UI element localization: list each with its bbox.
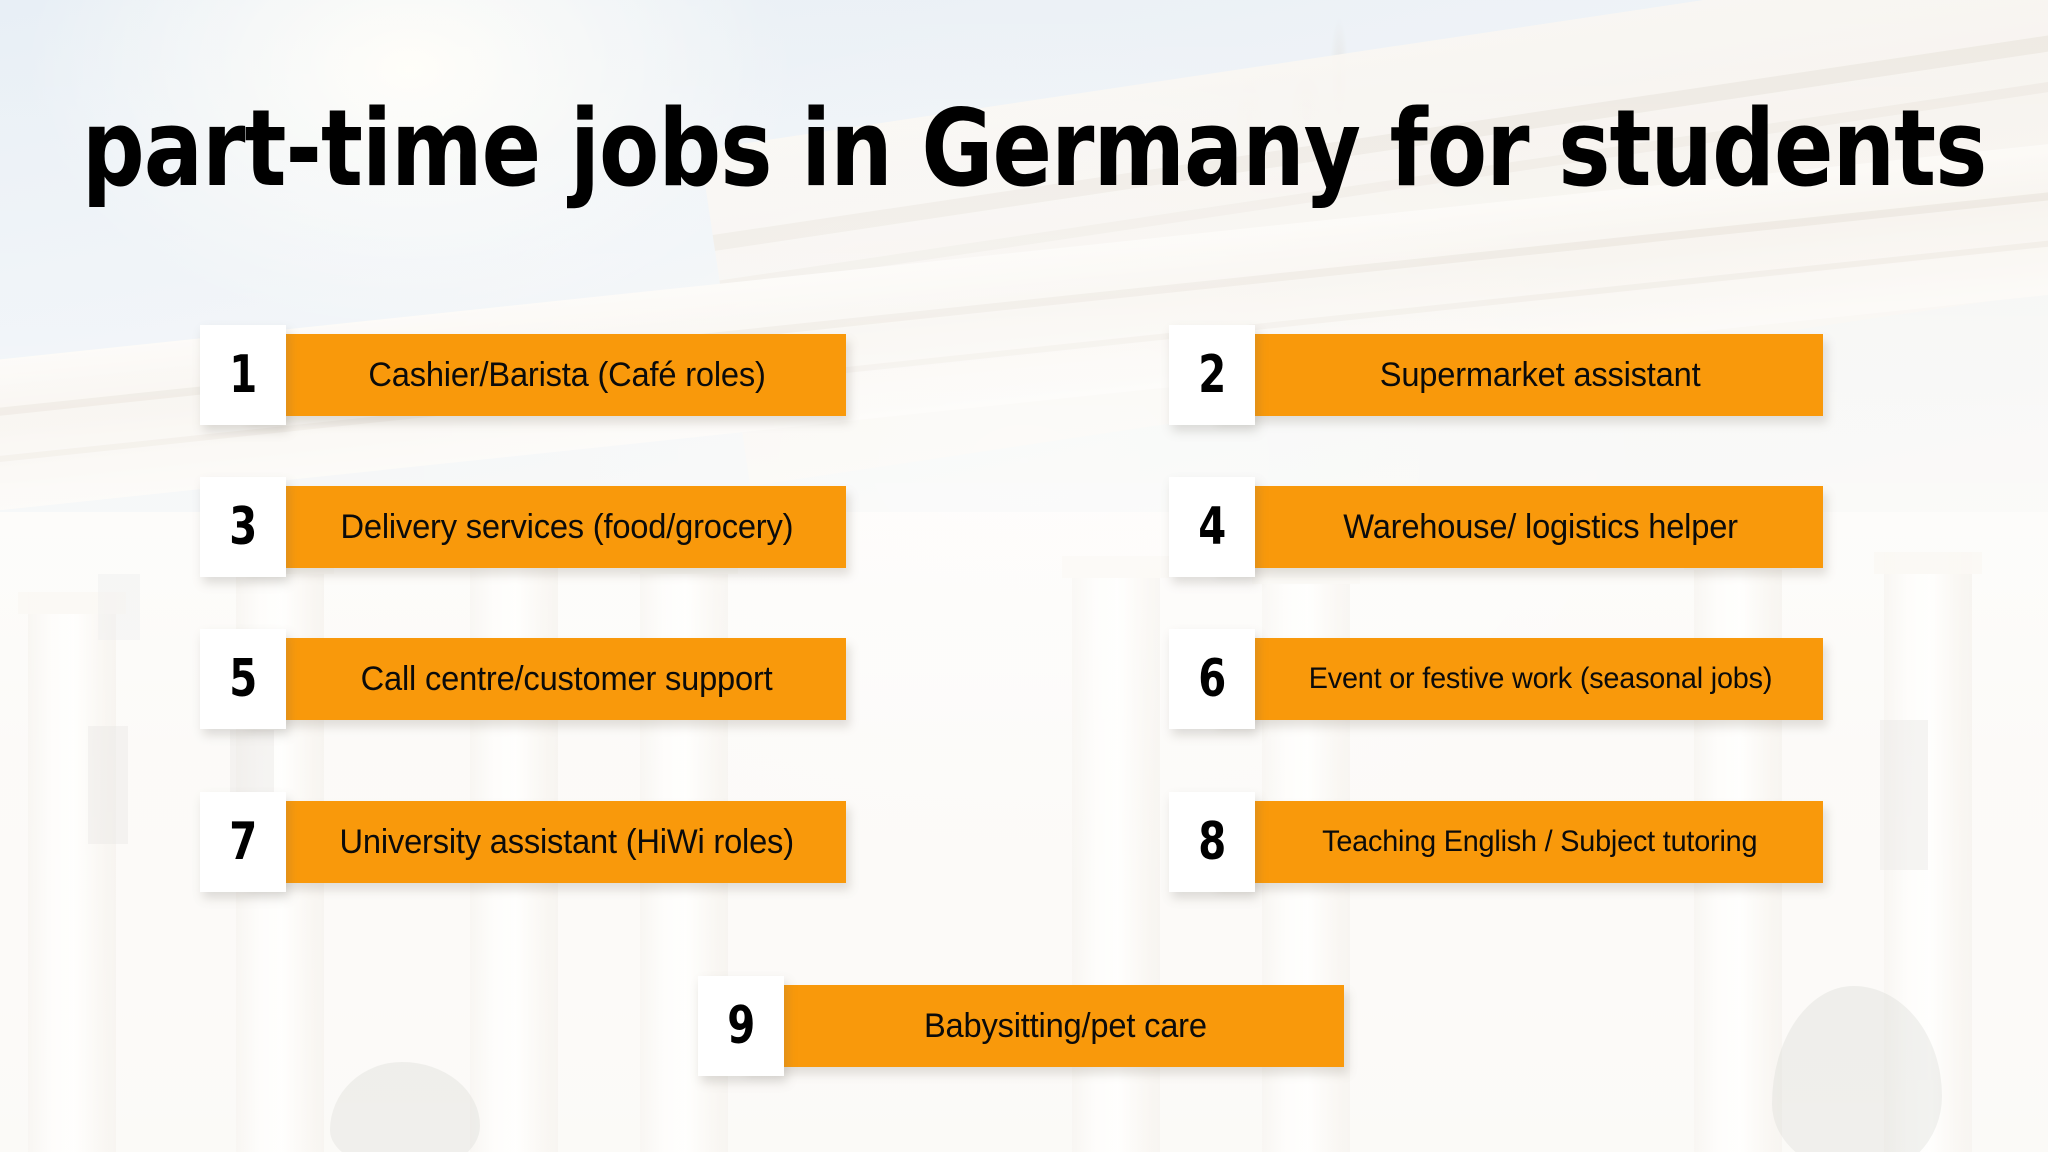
item-number: 4 — [1198, 501, 1226, 553]
infographic-canvas: part-time jobs in Germany for students C… — [0, 0, 2048, 1152]
list-item-6[interactable]: Event or festive work (seasonal jobs) 6 — [1213, 638, 1823, 720]
list-item-4[interactable]: Warehouse/ logistics helper 4 — [1213, 486, 1823, 568]
item-label: Warehouse/ logistics helper — [1281, 508, 1754, 547]
item-number: 5 — [229, 653, 257, 705]
item-label: Babysitting/pet care — [862, 1007, 1224, 1046]
list-item-5[interactable]: Call centre/customer support 5 — [244, 638, 846, 720]
item-number-badge: 6 — [1169, 629, 1255, 729]
item-label: Delivery services (food/grocery) — [279, 508, 810, 547]
item-bar[interactable]: Babysitting/pet care — [742, 985, 1344, 1067]
item-bar[interactable]: Event or festive work (seasonal jobs) — [1213, 638, 1823, 720]
item-bar[interactable]: University assistant (HiWi roles) — [244, 801, 846, 883]
item-number: 9 — [727, 1000, 755, 1052]
item-number: 8 — [1198, 816, 1226, 868]
item-number-badge: 4 — [1169, 477, 1255, 577]
item-bar[interactable]: Supermarket assistant — [1213, 334, 1823, 416]
item-number-badge: 9 — [698, 976, 784, 1076]
item-label: Call centre/customer support — [300, 660, 791, 699]
item-number: 3 — [229, 501, 257, 553]
list-item-8[interactable]: Teaching English / Subject tutoring 8 — [1213, 801, 1823, 883]
job-list: Cashier/Barista (Café roles) 1 Supermark… — [0, 0, 2048, 1152]
list-item-7[interactable]: University assistant (HiWi roles) 7 — [244, 801, 846, 883]
item-number-badge: 5 — [200, 629, 286, 729]
item-number-badge: 7 — [200, 792, 286, 892]
item-number-badge: 3 — [200, 477, 286, 577]
list-item-2[interactable]: Supermarket assistant 2 — [1213, 334, 1823, 416]
list-item-9[interactable]: Babysitting/pet care 9 — [742, 985, 1344, 1067]
item-label: Supermarket assistant — [1318, 356, 1717, 395]
item-bar[interactable]: Call centre/customer support — [244, 638, 846, 720]
list-item-3[interactable]: Delivery services (food/grocery) 3 — [244, 486, 846, 568]
item-number: 1 — [229, 349, 257, 401]
item-label: Event or festive work (seasonal jobs) — [1247, 662, 1789, 696]
item-number-badge: 1 — [200, 325, 286, 425]
list-item-1[interactable]: Cashier/Barista (Café roles) 1 — [244, 334, 846, 416]
item-bar[interactable]: Teaching English / Subject tutoring — [1213, 801, 1823, 883]
item-number: 2 — [1198, 349, 1226, 401]
item-number-badge: 8 — [1169, 792, 1255, 892]
item-bar[interactable]: Cashier/Barista (Café roles) — [244, 334, 846, 416]
item-label: Teaching English / Subject tutoring — [1261, 825, 1775, 859]
item-bar[interactable]: Warehouse/ logistics helper — [1213, 486, 1823, 568]
item-number: 6 — [1198, 653, 1226, 705]
item-number: 7 — [229, 816, 257, 868]
item-label: University assistant (HiWi roles) — [278, 823, 811, 862]
item-bar[interactable]: Delivery services (food/grocery) — [244, 486, 846, 568]
item-label: Cashier/Barista (Café roles) — [307, 356, 783, 395]
item-number-badge: 2 — [1169, 325, 1255, 425]
